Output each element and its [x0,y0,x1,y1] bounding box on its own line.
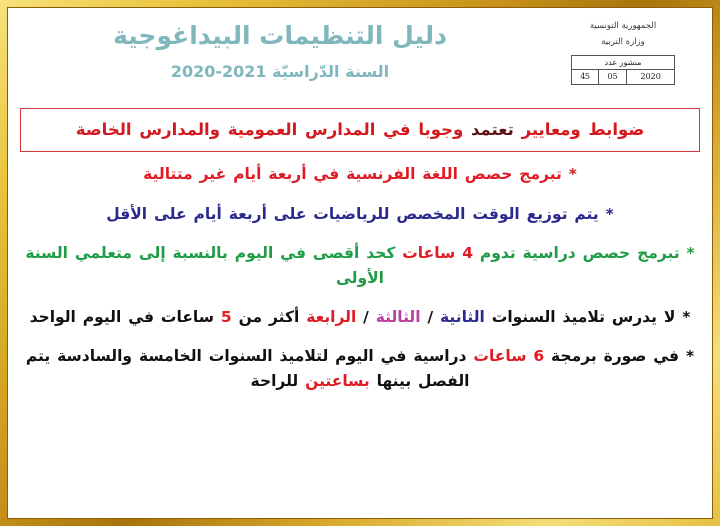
page-title: دليل التنظيمات البيداغوجية [20,20,540,51]
ministry-block: الجمهورية التونسية وزارة التربية منشور ع… [548,18,698,85]
rule-item: * لا يدرس تلاميذ السنوات الثانية / الثال… [24,305,696,330]
document-page: الجمهورية التونسية وزارة التربية منشور ع… [0,0,720,526]
rule-segment: 6 ساعات [473,347,544,365]
banner-part-1: ضوابط ومعايير [522,120,645,139]
rules-list: * تبرمج حصص اللغة الفرنسية في أربعة أيام… [20,162,700,394]
banner-text: ضوابط ومعايير تعتمد وجوبا في المدارس الع… [27,119,693,140]
document-sheet: الجمهورية التونسية وزارة التربية منشور ع… [8,8,712,518]
rule-segment: الثانية [440,308,485,326]
republic-line: الجمهورية التونسية [548,18,698,34]
rule-segment: يتم توزيع الوقت المخصص للرياضيات على أرب… [106,205,598,223]
rule-segment: الثالثة [376,308,421,326]
banner-part-2: تعتمد [471,120,514,139]
gold-frame-inner: الجمهورية التونسية وزارة التربية منشور ع… [7,7,713,519]
banner-part-3: وجوبا في المدارس العمومية والمدارس الخاص… [76,120,464,139]
school-year-value: 2020-2021 [171,62,267,81]
rule-segment: بساعتين [305,372,370,390]
gold-frame-border: الجمهورية التونسية وزارة التربية منشور ع… [0,0,720,526]
rule-item: * تبرمج حصص دراسية تدوم 4 ساعات كحد أقصى… [24,241,696,291]
rule-segment: تبرمج حصص دراسية تدوم [473,244,680,262]
rule-item: * تبرمج حصص اللغة الفرنسية في أربعة أيام… [24,162,696,187]
table-row: منشور عدد [572,56,675,70]
bullet-star-icon: * [675,308,690,326]
rule-segment: / [356,308,375,326]
bullet-star-icon: * [680,244,695,262]
title-block: دليل التنظيمات البيداغوجية السنة الدّراس… [20,20,540,81]
rule-segment: تبرمج حصص اللغة الفرنسية في أربعة أيام غ… [143,165,562,183]
rule-item: * يتم توزيع الوقت المخصص للرياضيات على أ… [24,202,696,227]
bullet-star-icon: * [562,165,577,183]
rule-segment: ساعات في اليوم الواحد [30,308,221,326]
document-header: الجمهورية التونسية وزارة التربية منشور ع… [20,14,700,106]
rule-segment: لا يدرس تلاميذ السنوات [485,308,676,326]
circular-month: 05 [598,70,627,84]
ministry-line: وزارة التربية [548,34,698,50]
rule-segment: 5 [221,308,232,326]
rule-segment: في صورة برمجة [544,347,679,365]
circular-number-table: منشور عدد 2020 05 45 [571,55,675,84]
red-banner: ضوابط ومعايير تعتمد وجوبا في المدارس الع… [20,108,700,152]
school-year-subtitle: السنة الدّراسيّة 2020-2021 [20,62,540,81]
circular-caption: منشور عدد [572,56,675,70]
bullet-star-icon: * [679,347,694,365]
rule-segment: أكثر من [232,308,307,326]
rule-segment: / [421,308,440,326]
bullet-star-icon: * [599,205,614,223]
circular-year: 2020 [627,70,675,84]
rule-item: * في صورة برمجة 6 ساعات دراسية في اليوم … [24,344,696,394]
rule-segment: للراحة [251,372,306,390]
subtitle-label: السنة الدّراسيّة [272,62,389,81]
rule-segment: كحد أقصى في اليوم بالنسبة إلى متعلمي الس… [25,244,402,287]
table-row: 2020 05 45 [572,70,675,84]
rule-segment: الرابعة [306,308,356,326]
circular-number: 45 [572,70,599,84]
rule-segment: 4 ساعات [402,244,473,262]
